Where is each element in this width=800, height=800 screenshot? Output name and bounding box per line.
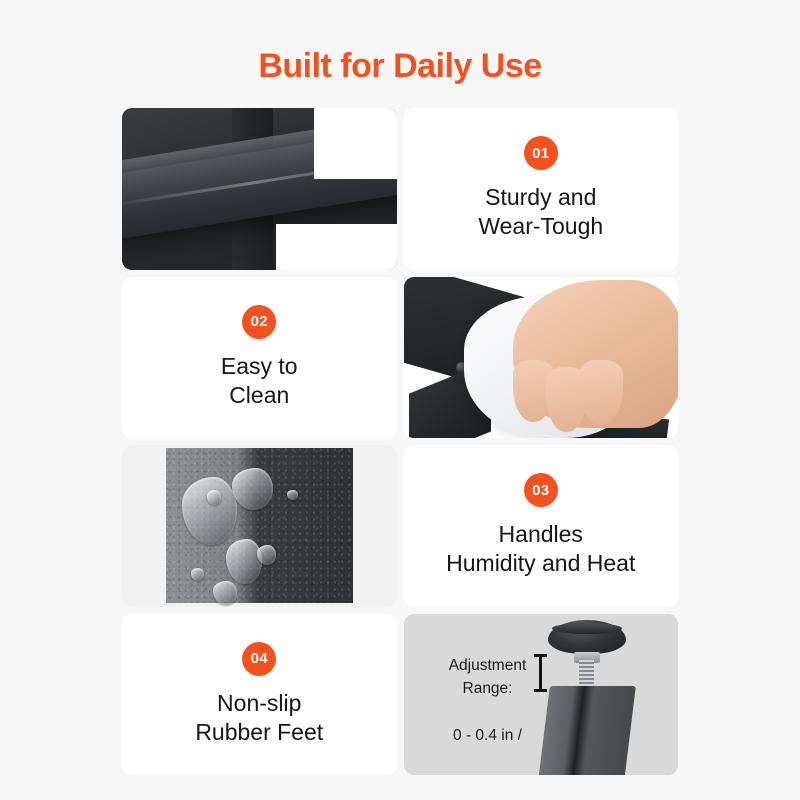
rubber-foot-illustration <box>522 614 672 776</box>
water-droplet <box>287 490 298 500</box>
feature-image-waterdrops <box>122 445 397 607</box>
feature-title-4: Non-slip Rubber Feet <box>195 689 323 747</box>
feature-image-frame <box>122 108 397 270</box>
water-droplet <box>213 581 238 605</box>
feature-number-badge-2: 02 <box>242 305 276 339</box>
feature-title-1: Sturdy and Wear-Tough <box>478 183 603 241</box>
water-droplet <box>207 490 221 505</box>
water-droplets-photo <box>122 445 397 607</box>
adjustment-range-panel: Adjustment Range: 0 - 0.4 in / 0 - 10 mm <box>404 614 679 776</box>
product-feature-infographic: Built for Daily Use 01 Sturdy and Wear-T… <box>0 0 800 800</box>
feature-image-cleaning <box>404 277 679 439</box>
page-title: Built for Daily Use <box>0 48 800 85</box>
feature-image-adjustment: Adjustment Range: 0 - 0.4 in / 0 - 10 mm <box>404 614 679 776</box>
measurement-bracket-icon <box>534 654 547 692</box>
feature-title-3: Handles Humidity and Heat <box>446 520 635 578</box>
feature-card-3: 03 Handles Humidity and Heat <box>404 445 679 607</box>
feature-card-2: 02 Easy to Clean <box>122 277 397 439</box>
feature-card-4: 04 Non-slip Rubber Feet <box>122 614 397 776</box>
foot-threaded-screw <box>579 660 594 690</box>
bracket-bottom-cap <box>534 689 547 692</box>
feature-title-2: Easy to Clean <box>221 352 298 410</box>
hand-cleaning-photo <box>404 277 679 439</box>
feature-grid: 01 Sturdy and Wear-Tough 02 Easy to Clea… <box>122 108 678 775</box>
rubber-foot-rim <box>552 623 622 634</box>
water-droplet <box>226 539 262 584</box>
table-leg <box>538 686 636 776</box>
photo-white-corner-bottom <box>276 224 397 269</box>
metal-frame-photo <box>122 108 397 270</box>
water-droplet <box>257 545 276 564</box>
feature-number-badge-4: 04 <box>242 642 276 676</box>
feature-number-badge-1: 01 <box>524 136 558 170</box>
feature-card-1: 01 Sturdy and Wear-Tough <box>404 108 679 270</box>
bracket-line <box>539 656 542 690</box>
water-droplet <box>191 568 205 581</box>
photo-white-corner-top <box>314 108 396 179</box>
feature-number-badge-3: 03 <box>524 473 558 507</box>
